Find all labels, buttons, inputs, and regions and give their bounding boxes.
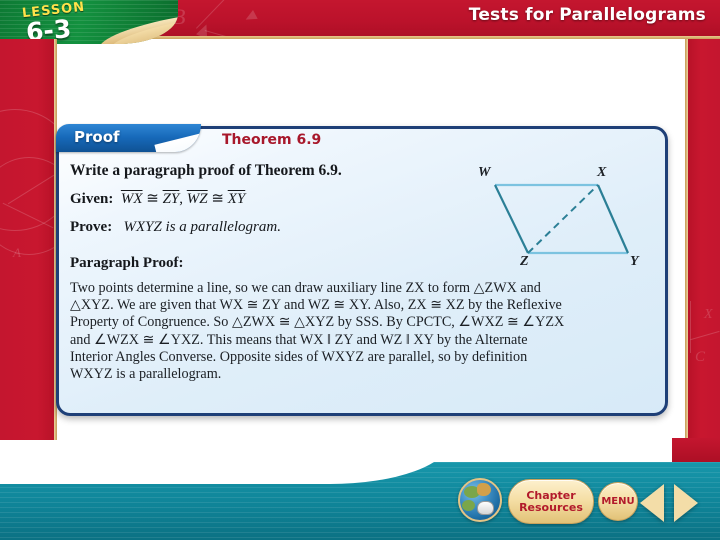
diagonal-zx [528,185,598,253]
parallelogram-svg [466,160,656,270]
paragraph-proof-body: Two points determine a line, so we can d… [70,280,650,383]
toolbar-curve [0,440,450,484]
paragraph-proof-label: Paragraph Proof: [70,255,183,272]
left-decorative-band: A [0,39,54,460]
given-row: Given: WX ≅ ZY, WZ ≅ XY [70,189,245,208]
globe-landmass-2 [477,483,491,496]
vertex-label-w: W [478,165,490,181]
parallelogram-figure: W X Z Y [466,160,656,270]
given-comma: , [179,191,183,207]
watermark-arrow-2 [243,10,257,24]
proof-line: Interior Angles Converse. Opposite sides… [70,349,650,366]
right-gold-rule [685,39,688,460]
slide-canvas: B Tests for Parallelograms LESSON 6-3 A … [0,0,720,540]
edge-wz [495,185,528,253]
page-title: Tests for Parallelograms [469,5,706,25]
congruent-symbol-2: ≅ [211,191,227,207]
given-seg-wz: WZ [187,191,208,207]
chapter-resources-line2: Resources [519,502,583,514]
proof-tab: Proof [56,124,201,152]
congruent-symbol-1: ≅ [146,191,162,207]
menu-button[interactable]: MENU [598,482,638,521]
right-decorative-band: X C [688,39,720,460]
theorem-label: Theorem 6.9 [222,132,321,148]
vertex-label-x: X [597,165,606,181]
globe-landmass-3 [462,500,475,511]
proof-line: △XYZ. We are given that WX ≅ ZY and WZ ≅… [70,297,650,314]
proof-line: Property of Congruence. So △ZWX ≅ △XYZ b… [70,314,650,331]
lesson-badge: LESSON 6-3 [0,0,178,44]
chapter-resources-line1: Chapter [526,490,575,502]
proof-line: Two points determine a line, so we can d… [70,280,650,297]
vertex-label-z: Z [520,254,529,270]
proof-tab-label: Proof [74,128,120,146]
triangle-left-icon[interactable] [640,484,664,522]
watermark-segment-3 [690,301,691,353]
bottom-red-chip [672,438,720,462]
prove-label: Prove: [70,219,112,235]
given-seg-wx: WX [121,191,143,207]
proof-line: WXYZ is a parallelogram. [70,366,650,383]
given-seg-xy: XY [228,191,246,207]
given-seg-zy: ZY [163,191,180,207]
vertex-label-y: Y [630,254,639,270]
prove-statement: WXYZ is a parallelogram. [123,219,281,235]
watermark-letter-a: A [13,245,21,261]
prove-row: Prove: WXYZ is a parallelogram. [70,219,281,236]
edge-xy [598,185,628,253]
badge-swoosh [97,0,178,44]
prompt-text: Write a paragraph proof of Theorem 6.9. [70,162,342,180]
given-label: Given: [70,191,113,207]
watermark-letter-c: C [695,349,705,366]
chapter-resources-button[interactable]: Chapter Resources [508,479,594,524]
watermark-letter-x: X [704,307,713,323]
computer-mouse-icon [477,501,494,515]
watermark-segment-4 [690,331,719,340]
proof-line: and ∠WZX ≅ ∠YXZ. This means that WX ‖ ZY… [70,332,650,349]
menu-button-label: MENU [601,496,634,507]
triangle-right-icon[interactable] [674,484,698,522]
globe-mouse-icon[interactable] [458,478,502,522]
